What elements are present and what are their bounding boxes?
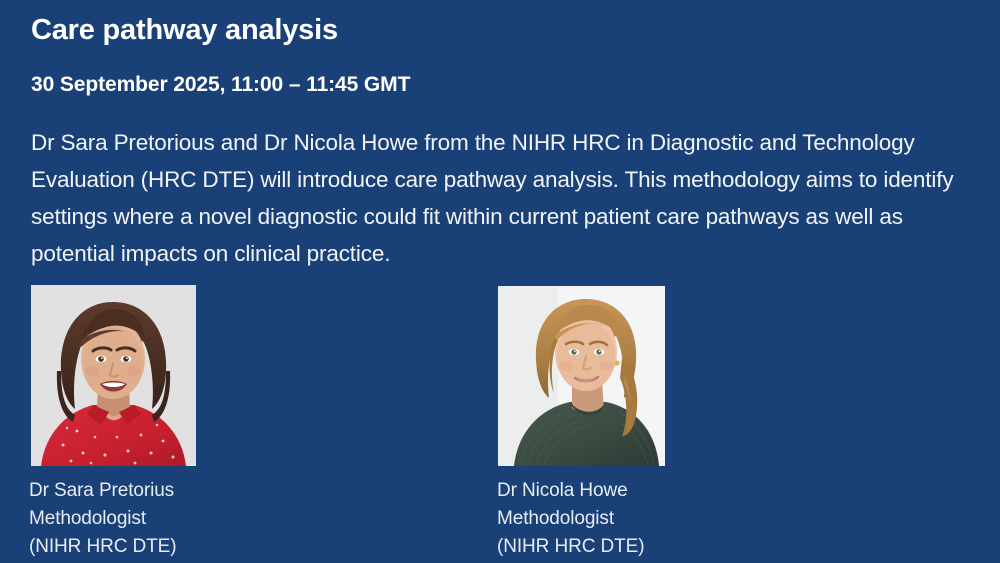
speaker-caption-nicola-howe: Dr Nicola Howe Methodologist (NIHR HRC D… [497, 477, 644, 561]
presentation-slide: Care pathway analysis 30 September 2025,… [0, 0, 1000, 563]
speaker-caption-sara-pretorius: Dr Sara Pretorius Methodologist (NIHR HR… [29, 477, 176, 561]
speaker-photo-sara-pretorius [31, 285, 196, 466]
session-description: Dr Sara Pretorious and Dr Nicola Howe fr… [31, 124, 969, 272]
speaker-photo-nicola-howe [498, 286, 665, 466]
portrait-illustration-sara [31, 285, 196, 466]
speaker-affiliation: (NIHR HRC DTE) [497, 533, 644, 561]
speaker-role: Methodologist [29, 505, 176, 533]
portrait-illustration-nicola [498, 286, 665, 466]
event-datetime: 30 September 2025, 11:00 – 11:45 GMT [31, 71, 410, 99]
speaker-name: Dr Sara Pretorius [29, 477, 176, 505]
speaker-affiliation: (NIHR HRC DTE) [29, 533, 176, 561]
speaker-role: Methodologist [497, 505, 644, 533]
page-title: Care pathway analysis [31, 12, 338, 48]
speaker-name: Dr Nicola Howe [497, 477, 644, 505]
